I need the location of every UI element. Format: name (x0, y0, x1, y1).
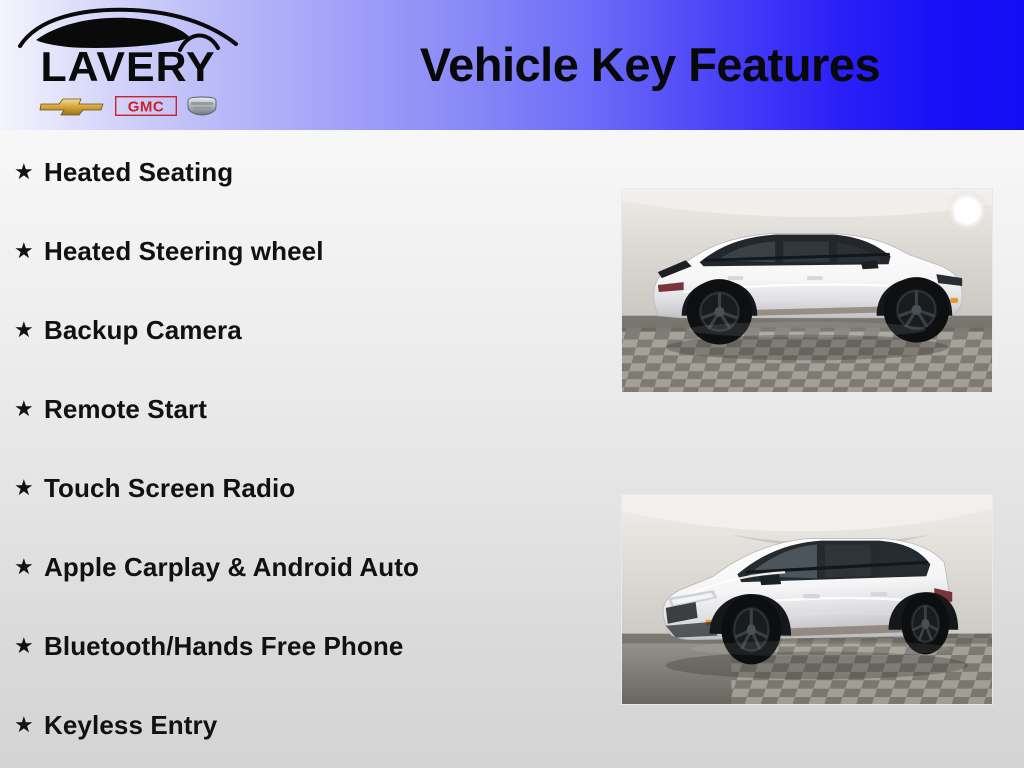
cadillac-crest-icon (187, 96, 217, 116)
feature-label: Backup Camera (44, 313, 242, 347)
logo-wordmark: LAVERY (10, 46, 247, 88)
feature-item: ★Backup Camera (14, 313, 242, 347)
star-bullet-icon: ★ (14, 550, 44, 584)
star-bullet-icon: ★ (14, 234, 44, 268)
feature-label: Apple Carplay & Android Auto (44, 550, 419, 584)
feature-item: ★Heated Steering wheel (14, 234, 324, 268)
brand-badges: GMC (12, 92, 244, 120)
feature-item: ★Remote Start (14, 392, 207, 426)
feature-label: Touch Screen Radio (44, 471, 295, 505)
gmc-wordmark-icon: GMC (115, 96, 177, 116)
star-bullet-icon: ★ (14, 313, 44, 347)
dealer-logo: LAVERY GMC (12, 4, 244, 126)
star-bullet-icon: ★ (14, 708, 44, 742)
feature-item: ★Bluetooth/Hands Free Phone (14, 629, 403, 663)
page-title: Vehicle Key Features (300, 38, 1000, 92)
feature-label: Bluetooth/Hands Free Phone (44, 629, 403, 663)
star-bullet-icon: ★ (14, 629, 44, 663)
star-bullet-icon: ★ (14, 392, 44, 426)
feature-item: ★Apple Carplay & Android Auto (14, 550, 419, 584)
feature-item: ★Keyless Entry (14, 708, 217, 742)
vehicle-photo-front-three-quarter (621, 494, 993, 705)
feature-item: ★Touch Screen Radio (14, 471, 295, 505)
star-bullet-icon: ★ (14, 155, 44, 189)
vehicle-photo-side-profile (621, 188, 993, 393)
feature-label: Remote Start (44, 392, 207, 426)
feature-label: Heated Seating (44, 155, 233, 189)
feature-label: Heated Steering wheel (44, 234, 324, 268)
chevrolet-bowtie-icon (39, 96, 105, 116)
star-bullet-icon: ★ (14, 471, 44, 505)
feature-item: ★Heated Seating (14, 155, 233, 189)
svg-text:GMC: GMC (128, 99, 165, 116)
slide-header: LAVERY GMC (0, 0, 1024, 130)
feature-label: Keyless Entry (44, 708, 217, 742)
